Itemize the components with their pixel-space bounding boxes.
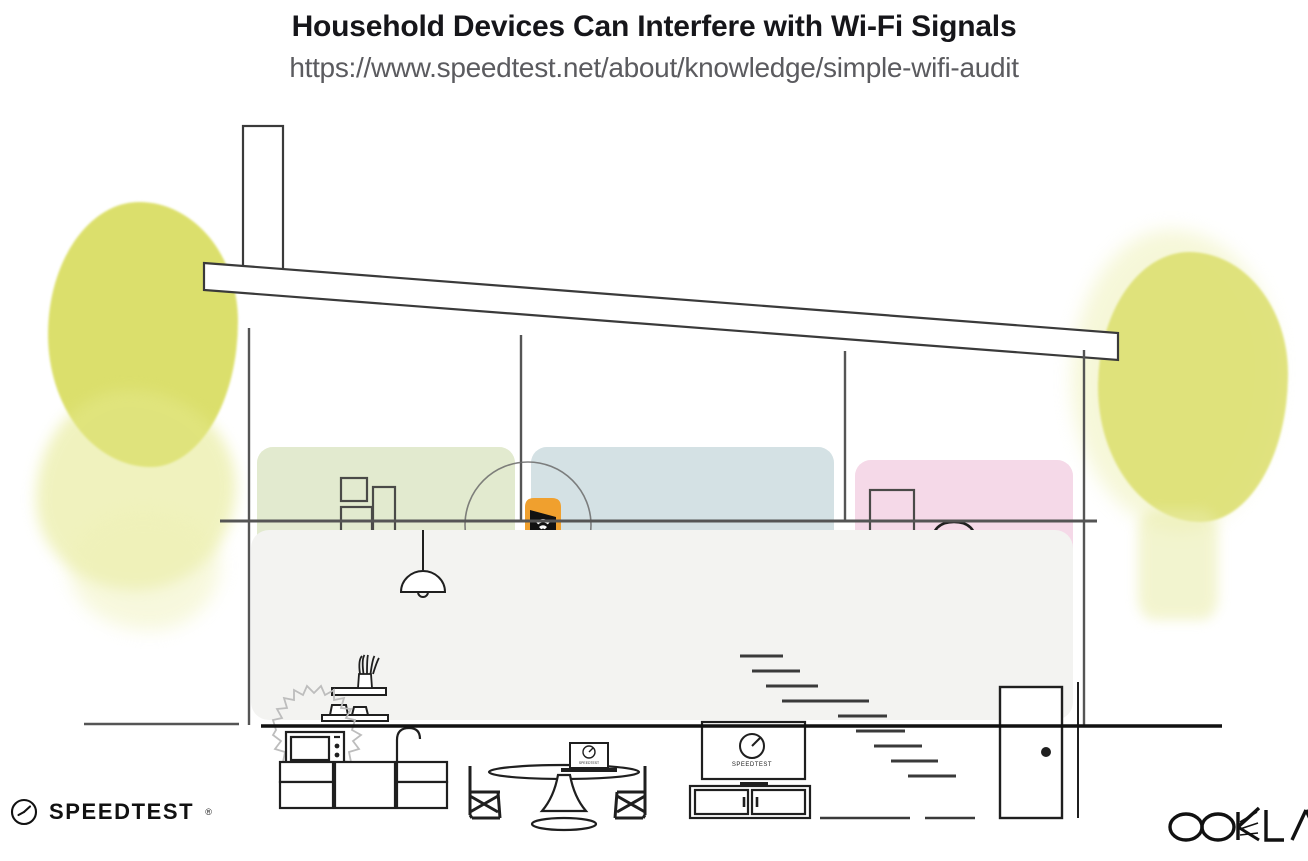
microwave [286,732,344,765]
ookla-wordmark-graphic [1166,802,1308,846]
house-illustration: SPEEDTEST [0,110,1308,750]
tv-screen-label: SPEEDTEST [732,762,772,768]
speedtest-wordmark: SPEEDTEST [49,799,194,825]
speedtest-gauge-icon [10,798,38,826]
chimney [243,126,283,276]
laptop: SPEEDTEST [561,743,617,772]
page-title: Household Devices Can Interfere with Wi-… [0,10,1308,45]
speedtest-trademark: ® [205,807,212,817]
header: Household Devices Can Interfere with Wi-… [0,0,1308,84]
infographic-page: Household Devices Can Interfere with Wi-… [0,0,1308,861]
roof-beam [204,263,1118,360]
footer: SPEEDTEST ® OOKLA [0,780,1308,861]
laptop-screen-label: SPEEDTEST [579,761,599,765]
speedtest-logo: SPEEDTEST ® [10,798,212,826]
television: SPEEDTEST [702,722,805,786]
source-url: https://www.speedtest.net/about/knowledg… [0,51,1308,85]
ookla-logo: OOKLA [1166,802,1308,846]
